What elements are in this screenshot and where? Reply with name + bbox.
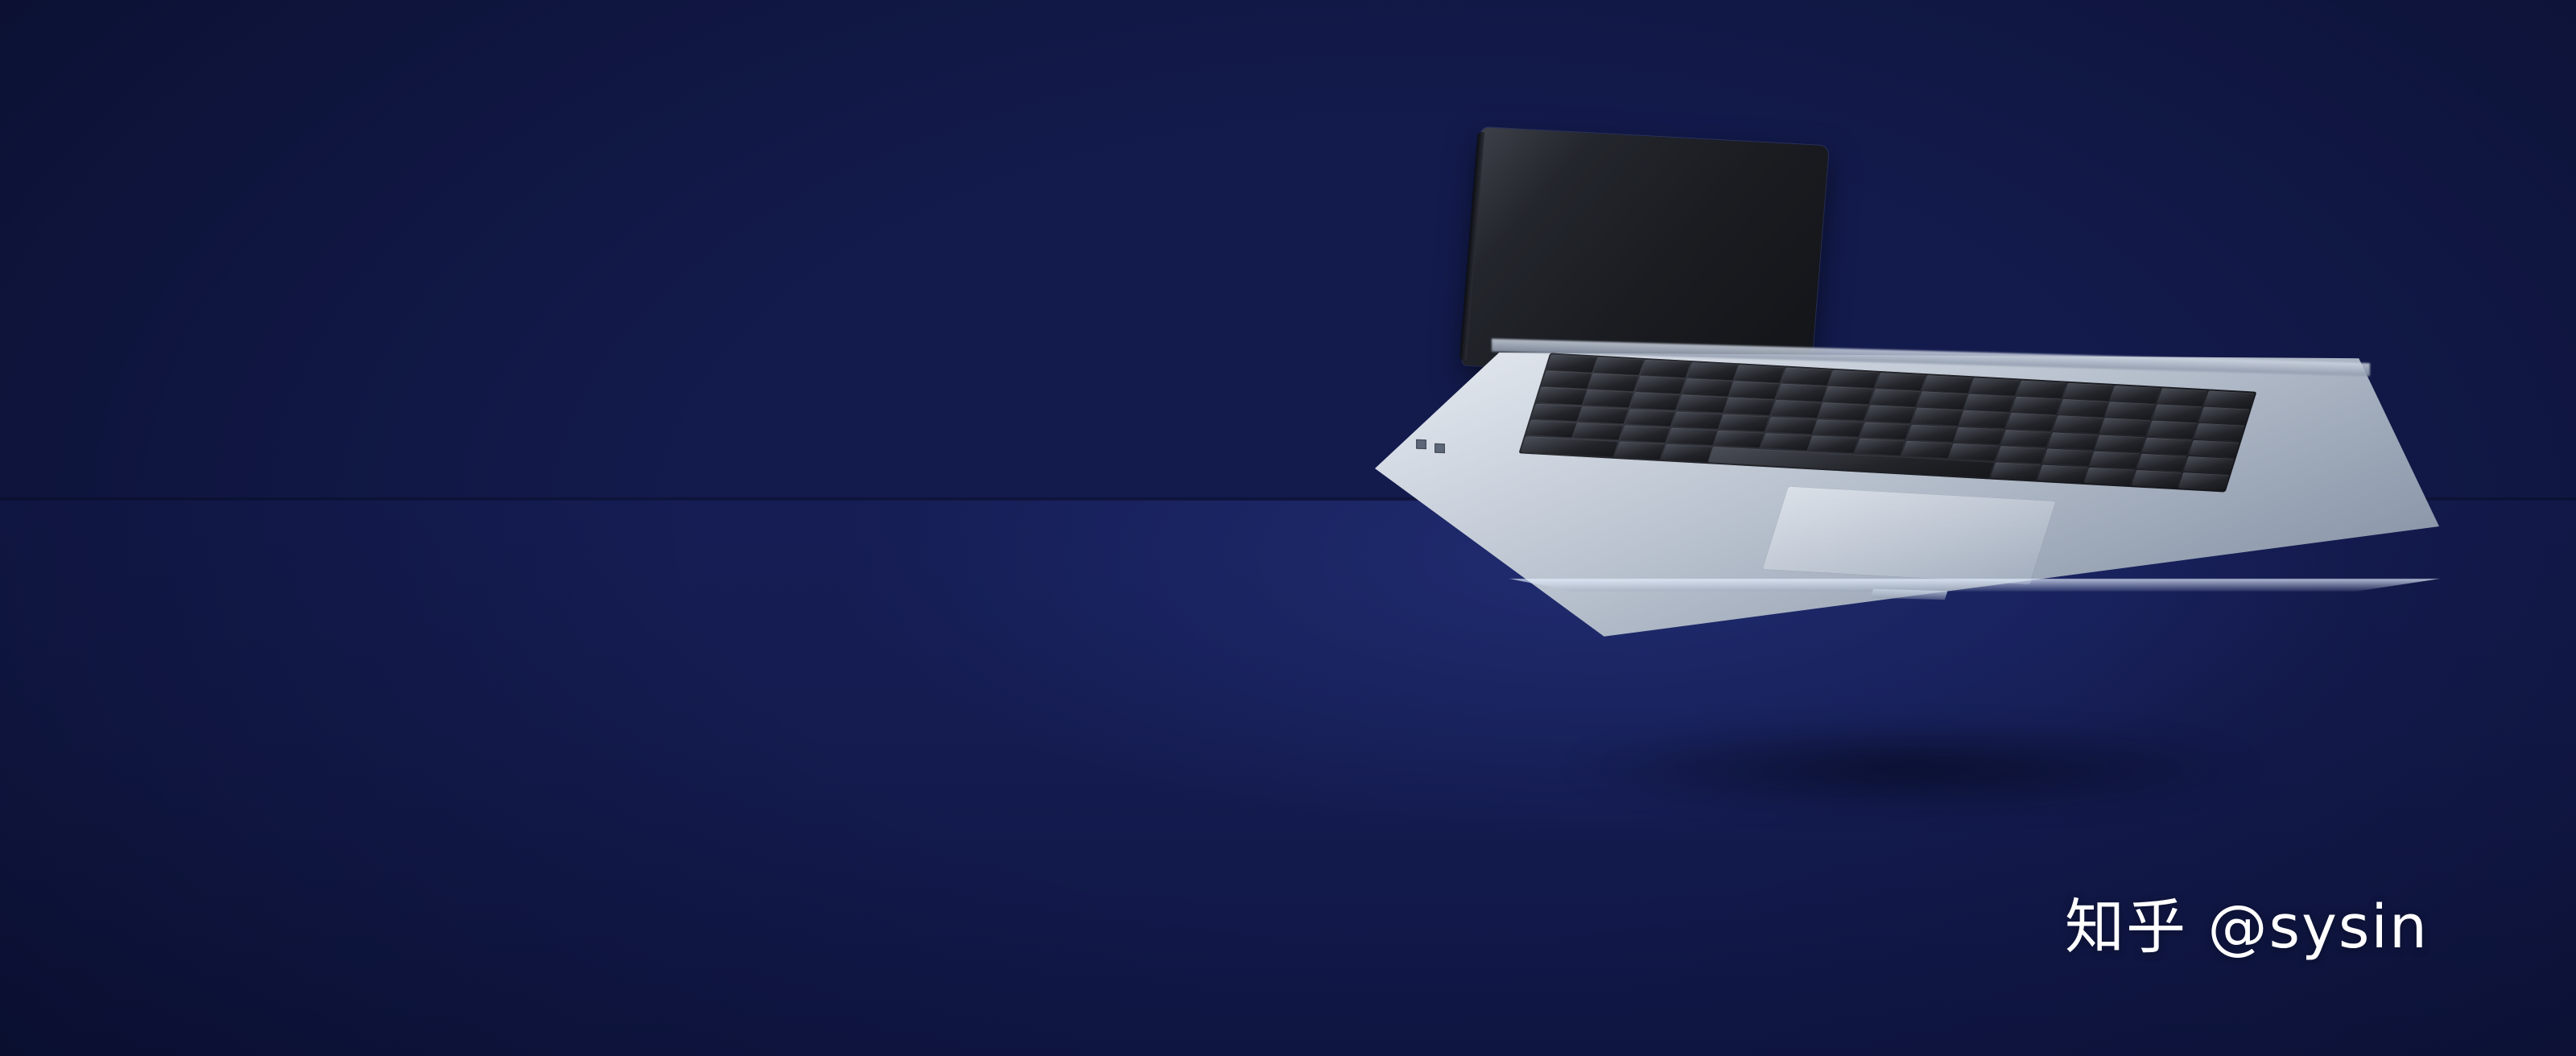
key	[1615, 441, 1666, 459]
key	[1912, 407, 1963, 425]
key	[1546, 354, 1597, 372]
key	[2132, 470, 2182, 488]
key	[1964, 394, 2015, 411]
key	[1771, 400, 1822, 418]
key	[1635, 376, 1686, 394]
key	[1641, 359, 1691, 377]
key	[2189, 439, 2240, 457]
laptop-mockup: Edit Issue Settings Network Causes Throu…	[1368, 217, 2512, 853]
laptop-port	[1416, 439, 1426, 449]
key	[1672, 411, 1723, 429]
key	[1724, 398, 1775, 415]
key	[1761, 433, 1811, 451]
key	[1823, 386, 1874, 404]
key	[1991, 462, 2041, 480]
key	[2184, 456, 2235, 473]
key	[1969, 377, 2020, 395]
key	[1865, 405, 1916, 423]
key	[1949, 443, 2000, 460]
key	[1677, 394, 1728, 412]
key	[2147, 420, 2198, 438]
key	[1735, 365, 1785, 382]
key	[2063, 382, 2114, 400]
key	[1907, 424, 1958, 442]
key	[1922, 375, 1973, 393]
key	[2090, 451, 2140, 468]
laptop-base	[1368, 353, 2439, 642]
key	[2110, 386, 2161, 403]
key	[1588, 373, 1639, 391]
key	[2199, 406, 2250, 424]
laptop-drop-shadow	[1417, 700, 2407, 837]
key	[1542, 370, 1592, 388]
key	[2178, 472, 2229, 490]
key	[1902, 440, 1953, 458]
key	[1593, 357, 1644, 374]
key	[2204, 390, 2255, 408]
key	[1578, 406, 1629, 423]
key	[1818, 402, 1869, 420]
watermark: 知乎 @sysin	[2065, 879, 2429, 965]
key	[1777, 383, 1827, 401]
key	[1620, 425, 1670, 443]
key	[1583, 390, 1634, 407]
key	[2053, 415, 2103, 433]
key	[2157, 388, 2208, 406]
key	[1719, 414, 1769, 431]
key	[1526, 419, 1577, 437]
key	[2085, 467, 2136, 485]
key	[1813, 419, 1864, 436]
key	[1729, 381, 1780, 398]
key	[2011, 397, 2062, 415]
key	[2001, 429, 2052, 447]
key	[2100, 418, 2151, 435]
key	[1630, 392, 1681, 410]
key	[1662, 443, 1712, 461]
key	[2142, 437, 2193, 455]
key	[2105, 402, 2156, 419]
key	[2037, 464, 2088, 482]
key	[1954, 427, 2004, 444]
key	[2017, 380, 2067, 398]
key	[2043, 448, 2094, 466]
key	[1860, 422, 1911, 439]
key	[1536, 387, 1587, 405]
key	[2095, 435, 2145, 452]
key	[2152, 404, 2202, 422]
key	[1714, 430, 1765, 448]
key	[1687, 362, 1738, 380]
key	[1573, 423, 1624, 440]
key	[1808, 435, 1859, 453]
key	[2006, 413, 2057, 431]
laptop-port	[1435, 443, 1445, 453]
key	[1876, 373, 1926, 390]
key	[2048, 431, 2099, 449]
key	[1667, 427, 1718, 445]
key	[1959, 410, 2010, 428]
key	[1625, 409, 1676, 427]
key	[2136, 453, 2187, 471]
key	[1828, 369, 1879, 387]
key	[1996, 446, 2046, 464]
key	[2058, 399, 2109, 417]
key	[1781, 367, 1832, 385]
key	[1855, 438, 1905, 456]
key	[1531, 403, 1582, 421]
key	[1766, 416, 1817, 434]
key	[1918, 391, 1968, 409]
key	[1870, 389, 1921, 406]
key	[1682, 378, 1733, 396]
key	[2194, 423, 2244, 441]
laptop-trackpad	[1762, 486, 2056, 584]
